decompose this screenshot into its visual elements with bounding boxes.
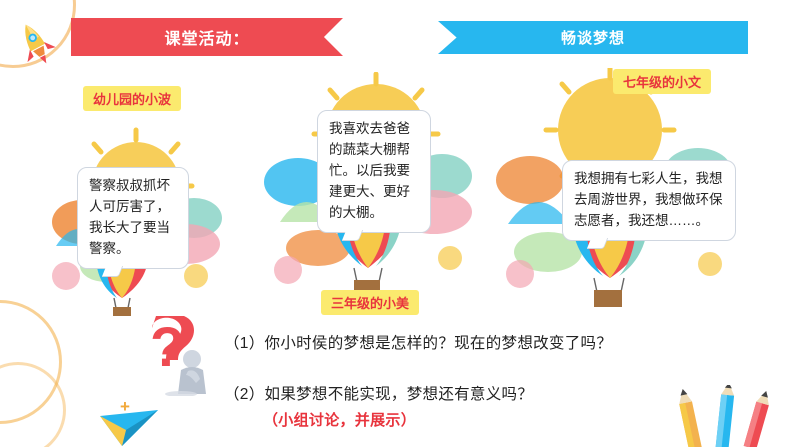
speech-bubble-grade7: 我想拥有七彩人生，我想去周游世界，我想做环保志愿者，我还想……。 [562, 160, 736, 241]
question-mark-icon: ? [148, 316, 214, 396]
question-3-note: （小组讨论，并展示） [263, 409, 416, 430]
label-grade7-xiaowen: 七年级的小文 [613, 69, 711, 94]
speech-bubble-kindergarten: 警察叔叔抓坏人可厉害了，我长大了要当警察。 [77, 167, 189, 269]
question-2: （2）如果梦想不能实现，梦想还有意义吗？ [224, 382, 533, 404]
slide-canvas: + 课堂活动： 畅谈梦想 [0, 0, 794, 447]
banner-talk-about-dream: 畅谈梦想 [438, 21, 748, 54]
pencils-icon [666, 385, 786, 447]
label-kindergarten-xiaobo: 幼儿园的小波 [83, 86, 181, 111]
label-grade3-xiaomei: 三年级的小美 [321, 290, 419, 315]
question-1: （1）你小时侯的梦想是怎样的？现在的梦想改变了吗？ [224, 331, 612, 353]
rocket-icon [8, 16, 64, 72]
banner-class-activity: 课堂活动： [71, 18, 343, 56]
speech-bubble-grade3: 我喜欢去爸爸的蔬菜大棚帮忙。以后我要建更大、更好的大棚。 [317, 110, 431, 233]
svg-text:?: ? [150, 316, 184, 378]
paper-plane-icon [96, 404, 162, 447]
